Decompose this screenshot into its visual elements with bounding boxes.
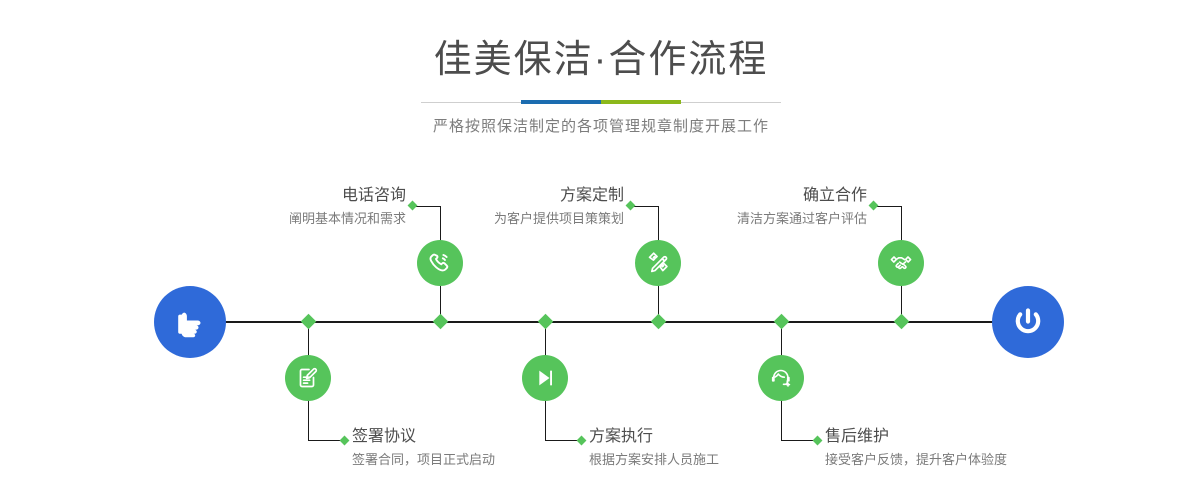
phone-call-icon [417, 240, 463, 286]
step-desc: 签署合同，项目正式启动 [352, 450, 612, 470]
handshake-icon [878, 240, 924, 286]
step-label-4: 方案执行 根据方案安排人员施工 [589, 427, 849, 470]
step-label-5: 确立合作 清洁方案通过客户评估 [460, 186, 867, 229]
document-edit-icon [285, 355, 331, 401]
timeline-node-marker [894, 314, 910, 330]
label-marker [869, 201, 879, 211]
timeline-node-marker [651, 314, 667, 330]
timeline-connector [901, 206, 902, 244]
step-label-6: 售后维护 接受客户反馈，提升客户体验度 [825, 427, 1125, 470]
step-title: 方案执行 [589, 427, 849, 447]
step-desc: 接受客户反馈，提升客户体验度 [825, 450, 1125, 470]
cooperation-flow-infographic: 佳美保洁·合作流程 严格按照保洁制定的各项管理规章制度开展工作 [0, 0, 1202, 502]
process-timeline: 电话咨询 阐明基本情况和需求 签署协议 签署合同，项目正式启动 [0, 0, 1202, 502]
step-title: 确立合作 [460, 186, 867, 206]
step-desc: 根据方案安排人员施工 [589, 450, 849, 470]
timeline-end-endpoint [992, 286, 1064, 358]
step-title: 签署协议 [352, 427, 612, 447]
timeline-node-marker [433, 314, 449, 330]
timeline-node-marker [538, 314, 554, 330]
timeline-node-marker [774, 314, 790, 330]
timeline-connector [308, 399, 309, 440]
support-agent-icon [758, 355, 804, 401]
label-marker [340, 436, 350, 446]
pointing-hand-icon [170, 302, 210, 342]
pencil-ruler-icon [635, 240, 681, 286]
power-icon [1007, 301, 1049, 343]
step-title: 售后维护 [825, 427, 1125, 447]
timeline-node-marker [301, 314, 317, 330]
step-desc: 清洁方案通过客户评估 [460, 209, 867, 229]
timeline-start-endpoint [154, 286, 226, 358]
play-skip-icon [522, 355, 568, 401]
timeline-connector [877, 206, 902, 207]
step-label-2: 签署协议 签署合同，项目正式启动 [352, 427, 612, 470]
